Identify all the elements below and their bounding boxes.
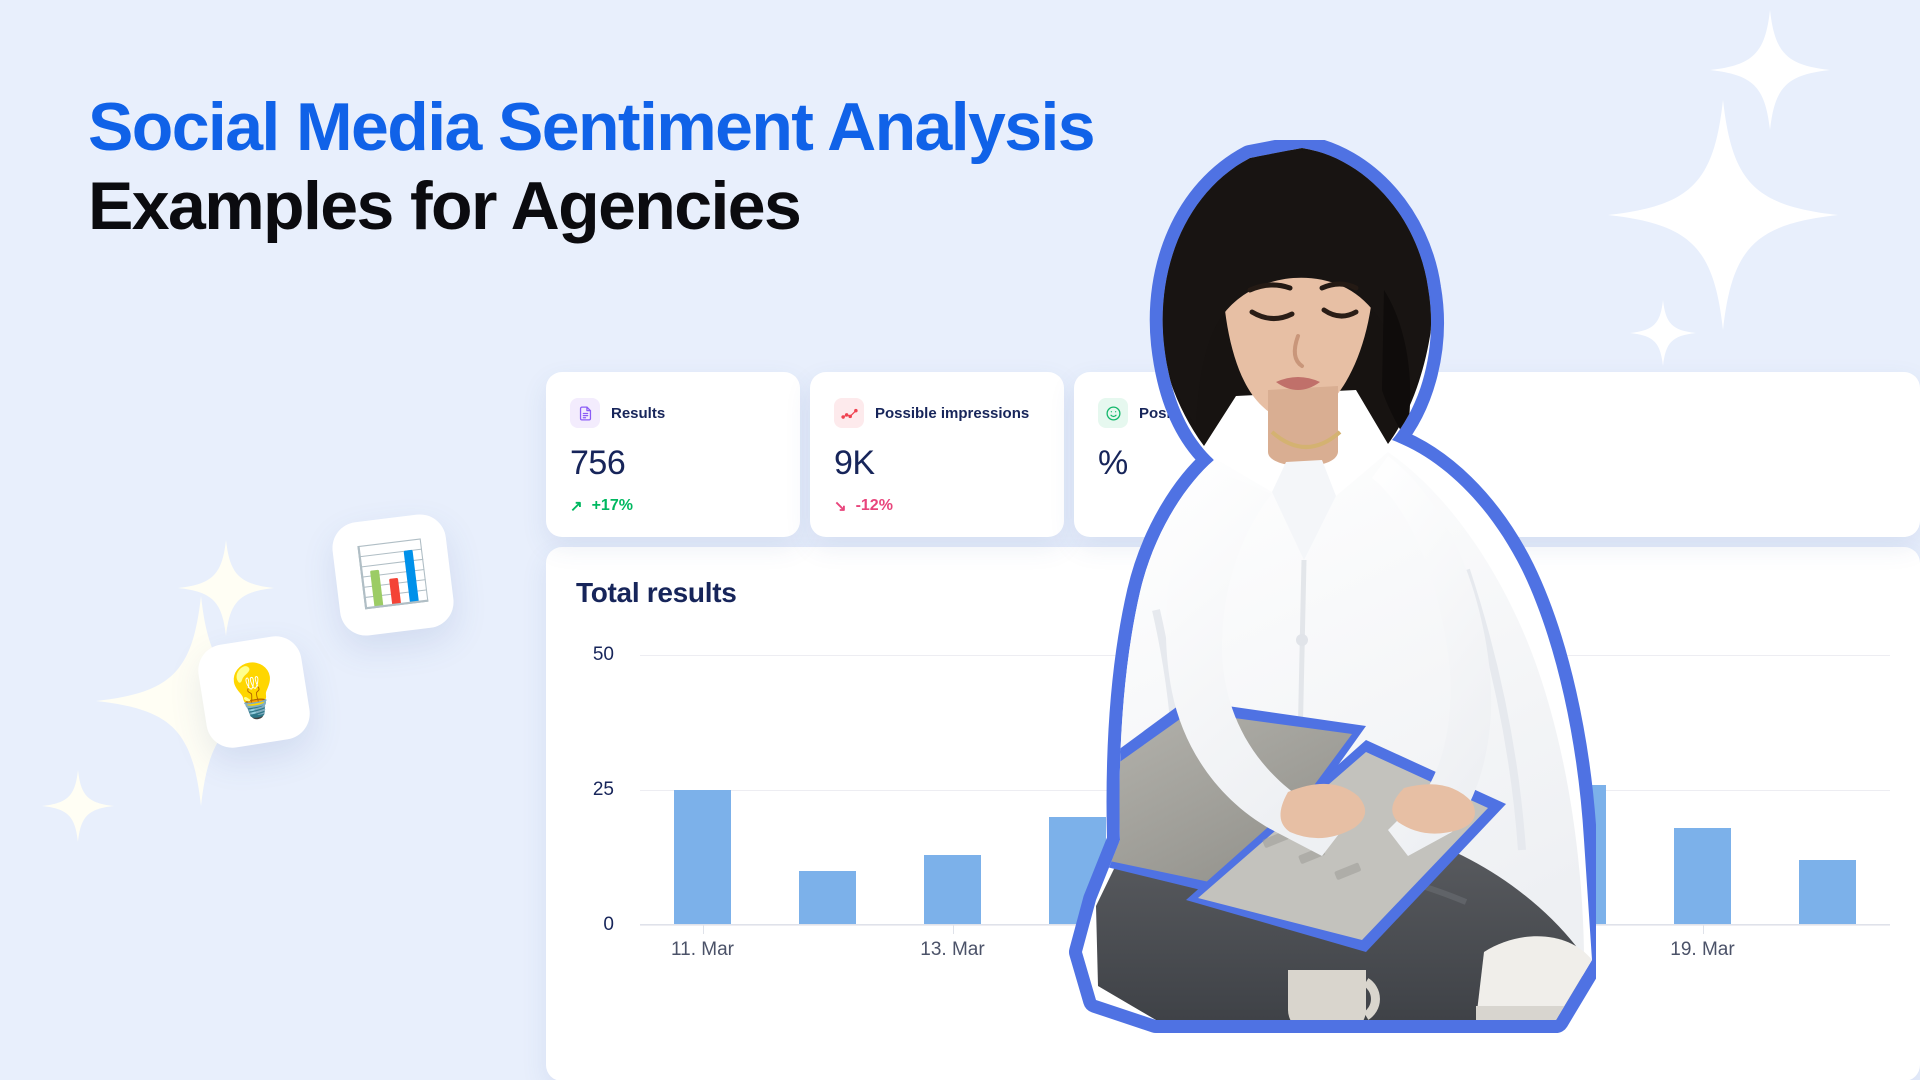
- chart-bar[interactable]: [924, 855, 982, 925]
- bar-slot[interactable]: [1640, 655, 1765, 925]
- stat-card-header: Results: [570, 398, 776, 428]
- y-axis-tick-label: 25: [593, 779, 614, 801]
- lightbulb-emoji-tile: 💡: [195, 633, 314, 752]
- x-axis-tick-mark: [703, 925, 704, 934]
- person-photo-cutout: [1036, 140, 1596, 1080]
- page-title: Social Media Sentiment Analysis Examples…: [88, 88, 1094, 246]
- stat-card-delta: ↗ +17%: [570, 497, 776, 515]
- trend-line-icon: [834, 398, 864, 428]
- stat-card-delta-value: -12%: [856, 497, 893, 515]
- arrow-down-right-icon: ↘: [834, 497, 847, 515]
- bar-slot[interactable]: [765, 655, 890, 925]
- bar-chart-emoji-tile: 📊: [329, 511, 456, 638]
- lightbulb-icon: 💡: [218, 661, 290, 722]
- sparkle-icon-top-right-tiny: [1630, 300, 1696, 366]
- page-title-line-1: Social Media Sentiment Analysis: [88, 88, 1094, 167]
- stat-card-value: 756: [570, 444, 776, 483]
- y-axis-tick-label: 50: [593, 644, 614, 666]
- page-title-line-2: Examples for Agencies: [88, 167, 1094, 246]
- stat-card-title: Results: [611, 405, 665, 422]
- chart-bar[interactable]: [1674, 828, 1732, 925]
- bar-chart-icon: 📊: [354, 542, 433, 608]
- stat-card-results[interactable]: Results 756 ↗ +17%: [546, 372, 800, 537]
- stat-card-title: Possible impressions: [875, 405, 1029, 422]
- chart-bar[interactable]: [674, 790, 732, 925]
- document-icon: [570, 398, 600, 428]
- stat-card-delta: ↘ -12%: [834, 497, 1040, 515]
- stat-card-header: Possible impressions: [834, 398, 1040, 428]
- x-axis-tick-label: 13. Mar: [920, 939, 984, 961]
- y-axis: 02550: [576, 655, 628, 925]
- stat-card-value: 9K: [834, 444, 1040, 483]
- arrow-up-right-icon: ↗: [570, 497, 583, 515]
- x-axis-tick-label: 19. Mar: [1670, 939, 1734, 961]
- bar-slot[interactable]: [640, 655, 765, 925]
- x-axis-tick-mark: [1703, 925, 1704, 934]
- x-axis-tick-label: 11. Mar: [671, 939, 734, 961]
- x-axis-tick-mark: [953, 925, 954, 934]
- stat-card-possible-impressions[interactable]: Possible impressions 9K ↘ -12%: [810, 372, 1064, 537]
- bar-slot[interactable]: [890, 655, 1015, 925]
- chart-bar[interactable]: [1799, 860, 1857, 925]
- stat-card-delta-value: +17%: [592, 497, 633, 515]
- sparkle-icon-left-tiny: [42, 770, 114, 842]
- bar-slot[interactable]: [1765, 655, 1890, 925]
- chart-bar[interactable]: [799, 871, 857, 925]
- sparkle-icon-top-right-large: [1608, 100, 1838, 330]
- y-axis-tick-label: 0: [603, 914, 614, 936]
